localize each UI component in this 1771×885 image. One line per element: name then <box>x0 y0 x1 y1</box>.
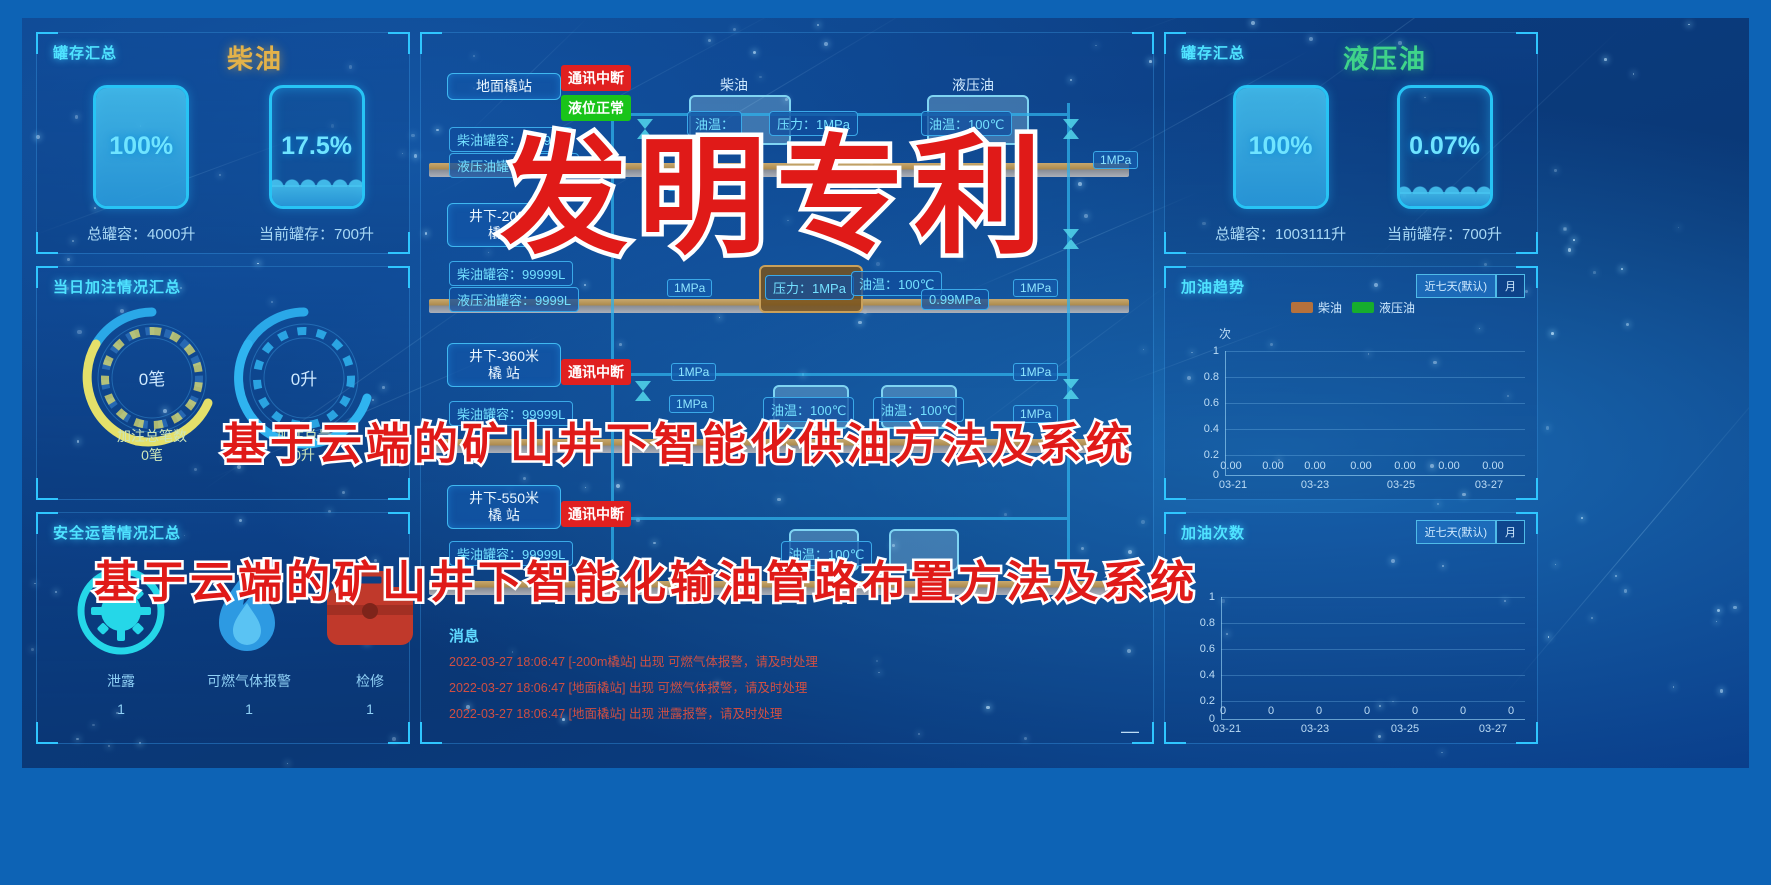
count-range-week-button[interactable]: 近七天(默认) <box>1416 520 1496 544</box>
tank-percent-current: 0.07% <box>1400 132 1490 161</box>
tank-fill-current <box>1400 192 1490 206</box>
tank-fill-current <box>272 185 362 206</box>
dashboard-root: 罐存汇总 柴油 100% 总罐容：4000升 17.5% 当前罐存：700升 <box>0 0 1771 885</box>
left-current-tank: 17.5% 当前罐存：700升 <box>259 85 374 244</box>
station-data-200m-hydraulic: 液压油罐容：9999L <box>449 287 579 312</box>
refuel-summary-title: 当日加注情况汇总 <box>53 276 181 297</box>
pipe-vertical-main <box>1067 103 1070 603</box>
legend-label-diesel: 柴油 <box>1318 299 1342 316</box>
trend-x-axis <box>1225 475 1525 476</box>
gauge-refuel-count-label: 加注总笔数 0笔 <box>77 427 227 465</box>
dashboard-screen: 罐存汇总 柴油 100% 总罐容：4000升 17.5% 当前罐存：700升 <box>22 18 1749 768</box>
left-tank-panel: 罐存汇总 柴油 100% 总罐容：4000升 17.5% 当前罐存：700升 <box>36 32 410 254</box>
pressure-mid-right: 0.99MPa <box>921 289 989 310</box>
count-range-month-button[interactable]: 月 <box>1496 520 1525 544</box>
refuel-count-title: 加油次数 <box>1181 522 1245 543</box>
trend-gridline <box>1225 429 1525 430</box>
count-point-label: 0 <box>1405 705 1425 717</box>
tank-graphic-current: 0.07% <box>1397 85 1493 209</box>
tank-caption-current: 当前罐存：700升 <box>1387 223 1502 244</box>
right-current-tank: 0.07% 当前罐存：700升 <box>1387 85 1502 244</box>
tank-caption-total: 总罐容：4000升 <box>87 223 195 244</box>
count-x-axis <box>1221 719 1525 720</box>
trend-y-axis-label: 次 <box>1219 325 1231 342</box>
trend-point-label: 0.00 <box>1299 460 1331 472</box>
safety-label-maintenance: 检修 <box>325 671 415 691</box>
legend-item-hydraulic[interactable]: 液压油 <box>1352 299 1415 316</box>
safety-summary-title: 安全运营情况汇总 <box>53 522 181 543</box>
trend-xtick-0321: 03-21 <box>1213 479 1253 491</box>
count-ytick-04: 0.4 <box>1189 669 1215 681</box>
refuel-count-panel: 加油次数 近七天(默认) 月 1 0.8 0.6 0.4 0.2 0 0 0 0… <box>1164 512 1538 744</box>
count-point-label: 0 <box>1357 705 1377 717</box>
station-name-360m[interactable]: 井下-360米 橇 站 <box>447 343 561 387</box>
message-line-3: 2022-03-27 18:06:47 [地面橇站] 出现 泄露报警，请及时处理 <box>449 703 782 722</box>
trend-gridline <box>1225 351 1525 352</box>
gauge-label-line1: 加注总笔数 <box>117 428 187 444</box>
tank-percent-total: 100% <box>1236 132 1326 161</box>
right-tank-panel-title: 罐存汇总 <box>1181 42 1245 63</box>
count-point-label: 0 <box>1501 705 1521 717</box>
left-tank-panel-title: 罐存汇总 <box>53 42 117 63</box>
safety-value-maintenance: 1 <box>325 701 415 717</box>
message-line-2: 2022-03-27 18:06:47 [地面橇站] 出现 可燃气体报警，请及时… <box>449 677 807 696</box>
trend-point-label: 0.00 <box>1257 460 1289 472</box>
station-name-550m[interactable]: 井下-550米 橇 站 <box>447 485 561 529</box>
trend-y-axis <box>1225 351 1226 475</box>
trend-xtick-0323: 03-23 <box>1295 479 1335 491</box>
trend-point-label: 0.00 <box>1389 460 1421 472</box>
trend-gridline <box>1225 377 1525 378</box>
pipe-horizontal-l3 <box>611 517 1067 520</box>
trend-point-label: 0.00 <box>1477 460 1509 472</box>
trend-point-label: 0.00 <box>1433 460 1465 472</box>
station-badge-comm-550m: 通讯中断 <box>561 501 631 527</box>
count-point-label: 0 <box>1261 705 1281 717</box>
count-gridline <box>1221 597 1525 598</box>
left-fuel-name: 柴油 <box>227 39 283 76</box>
gauge-refuel-count-value: 0笔 <box>77 365 227 390</box>
pressure-tag-2: 1MPa <box>667 279 712 297</box>
message-panel-title: 消息 <box>449 625 479 646</box>
trend-xtick-0325: 03-25 <box>1381 479 1421 491</box>
count-point-label: 0 <box>1453 705 1473 717</box>
legend-item-diesel[interactable]: 柴油 <box>1291 299 1342 316</box>
count-gridline <box>1221 649 1525 650</box>
station-badge-comm-360m: 通讯中断 <box>561 359 631 385</box>
safety-value-leak: 1 <box>81 701 161 717</box>
count-range-buttons[interactable]: 近七天(默认) 月 <box>1416 520 1525 544</box>
right-total-tank: 100% 总罐容：1003111升 <box>1215 85 1346 244</box>
trend-range-month-button[interactable]: 月 <box>1496 274 1525 298</box>
tank-percent-current: 17.5% <box>272 132 362 161</box>
safety-label-leak: 泄露 <box>81 671 161 691</box>
gauge-label-line2: 0笔 <box>141 447 163 463</box>
right-fuel-name: 液压油 <box>1343 39 1427 76</box>
trend-range-buttons[interactable]: 近七天(默认) 月 <box>1416 274 1525 298</box>
count-y-axis <box>1221 597 1222 719</box>
trend-point-label: 0.00 <box>1215 460 1247 472</box>
safety-label-gas: 可燃气体报警 <box>189 671 309 691</box>
count-xtick-0327: 03-27 <box>1471 723 1515 735</box>
watermark-line-2: 基于云端的矿山井下智能化输油管路布置方法及系统 <box>94 546 1198 610</box>
count-gridline <box>1221 701 1525 702</box>
tank-wave-current <box>1397 184 1493 194</box>
minus-icon[interactable]: — <box>1121 721 1139 742</box>
refuel-trend-title: 加油趋势 <box>1181 276 1245 297</box>
count-xtick-0321: 03-21 <box>1205 723 1249 735</box>
watermark-headline: 发明专利 <box>500 93 1052 278</box>
pressure-mid: 压力：1MPa <box>765 275 854 300</box>
legend-label-hydraulic: 液压油 <box>1379 299 1415 316</box>
trend-ytick-1: 1 <box>1193 345 1219 357</box>
tank-caption-current: 当前罐存：700升 <box>259 223 374 244</box>
tank-wave-current <box>269 177 365 187</box>
refuel-trend-panel: 加油趋势 近七天(默认) 月 柴油 液压油 次 1 0.8 0.6 0.4 <box>1164 266 1538 500</box>
tank-graphic-total: 100% <box>1233 85 1329 209</box>
safety-value-gas: 1 <box>189 701 309 717</box>
tank-graphic-current: 17.5% <box>269 85 365 209</box>
trend-point-label: 0.00 <box>1345 460 1377 472</box>
gauge-refuel-volume-value: 0升 <box>229 365 379 390</box>
left-total-tank: 100% 总罐容：4000升 <box>87 85 195 244</box>
station-label: 地面橇站 <box>476 78 532 94</box>
legend-swatch-diesel <box>1291 302 1313 313</box>
count-gridline <box>1221 675 1525 676</box>
count-xtick-0323: 03-23 <box>1293 723 1337 735</box>
pressure-tag-3: 1MPa <box>1013 279 1058 297</box>
count-point-label: 0 <box>1213 705 1233 717</box>
watermark-line-1: 基于云端的矿山井下智能化供油方法及系统 <box>222 408 1134 472</box>
pressure-tag-1: 1MPa <box>1093 151 1138 169</box>
count-point-label: 0 <box>1309 705 1329 717</box>
trend-gridline <box>1225 455 1525 456</box>
tank-graphic-total: 100% <box>93 85 189 209</box>
right-tank-panel: 罐存汇总 液压油 100% 总罐容：1003111升 0.07% 当前罐存：70… <box>1164 32 1538 254</box>
trend-ytick-06: 0.6 <box>1193 397 1219 409</box>
trend-xtick-0327: 03-27 <box>1469 479 1509 491</box>
station-badge-comm-surface: 通讯中断 <box>561 65 631 91</box>
trend-legend: 柴油 液压油 <box>1291 299 1415 316</box>
count-ytick-08: 0.8 <box>1189 617 1215 629</box>
trend-ytick-08: 0.8 <box>1193 371 1219 383</box>
trend-ytick-04: 0.4 <box>1193 423 1219 435</box>
tank-caption-total: 总罐容：1003111升 <box>1215 223 1346 244</box>
count-ytick-06: 0.6 <box>1189 643 1215 655</box>
trend-range-week-button[interactable]: 近七天(默认) <box>1416 274 1496 298</box>
count-ytick-02: 0.2 <box>1189 695 1215 707</box>
message-line-1: 2022-03-27 18:06:47 [-200m橇站] 出现 可燃气体报警，… <box>449 651 818 670</box>
trend-gridline <box>1225 403 1525 404</box>
legend-swatch-hydraulic <box>1352 302 1374 313</box>
count-xtick-0325: 03-25 <box>1383 723 1427 735</box>
count-gridline <box>1221 623 1525 624</box>
tank-percent-total: 100% <box>96 132 186 161</box>
pressure-tag-4: 1MPa <box>671 363 716 381</box>
pressure-tag-5: 1MPa <box>1013 363 1058 381</box>
